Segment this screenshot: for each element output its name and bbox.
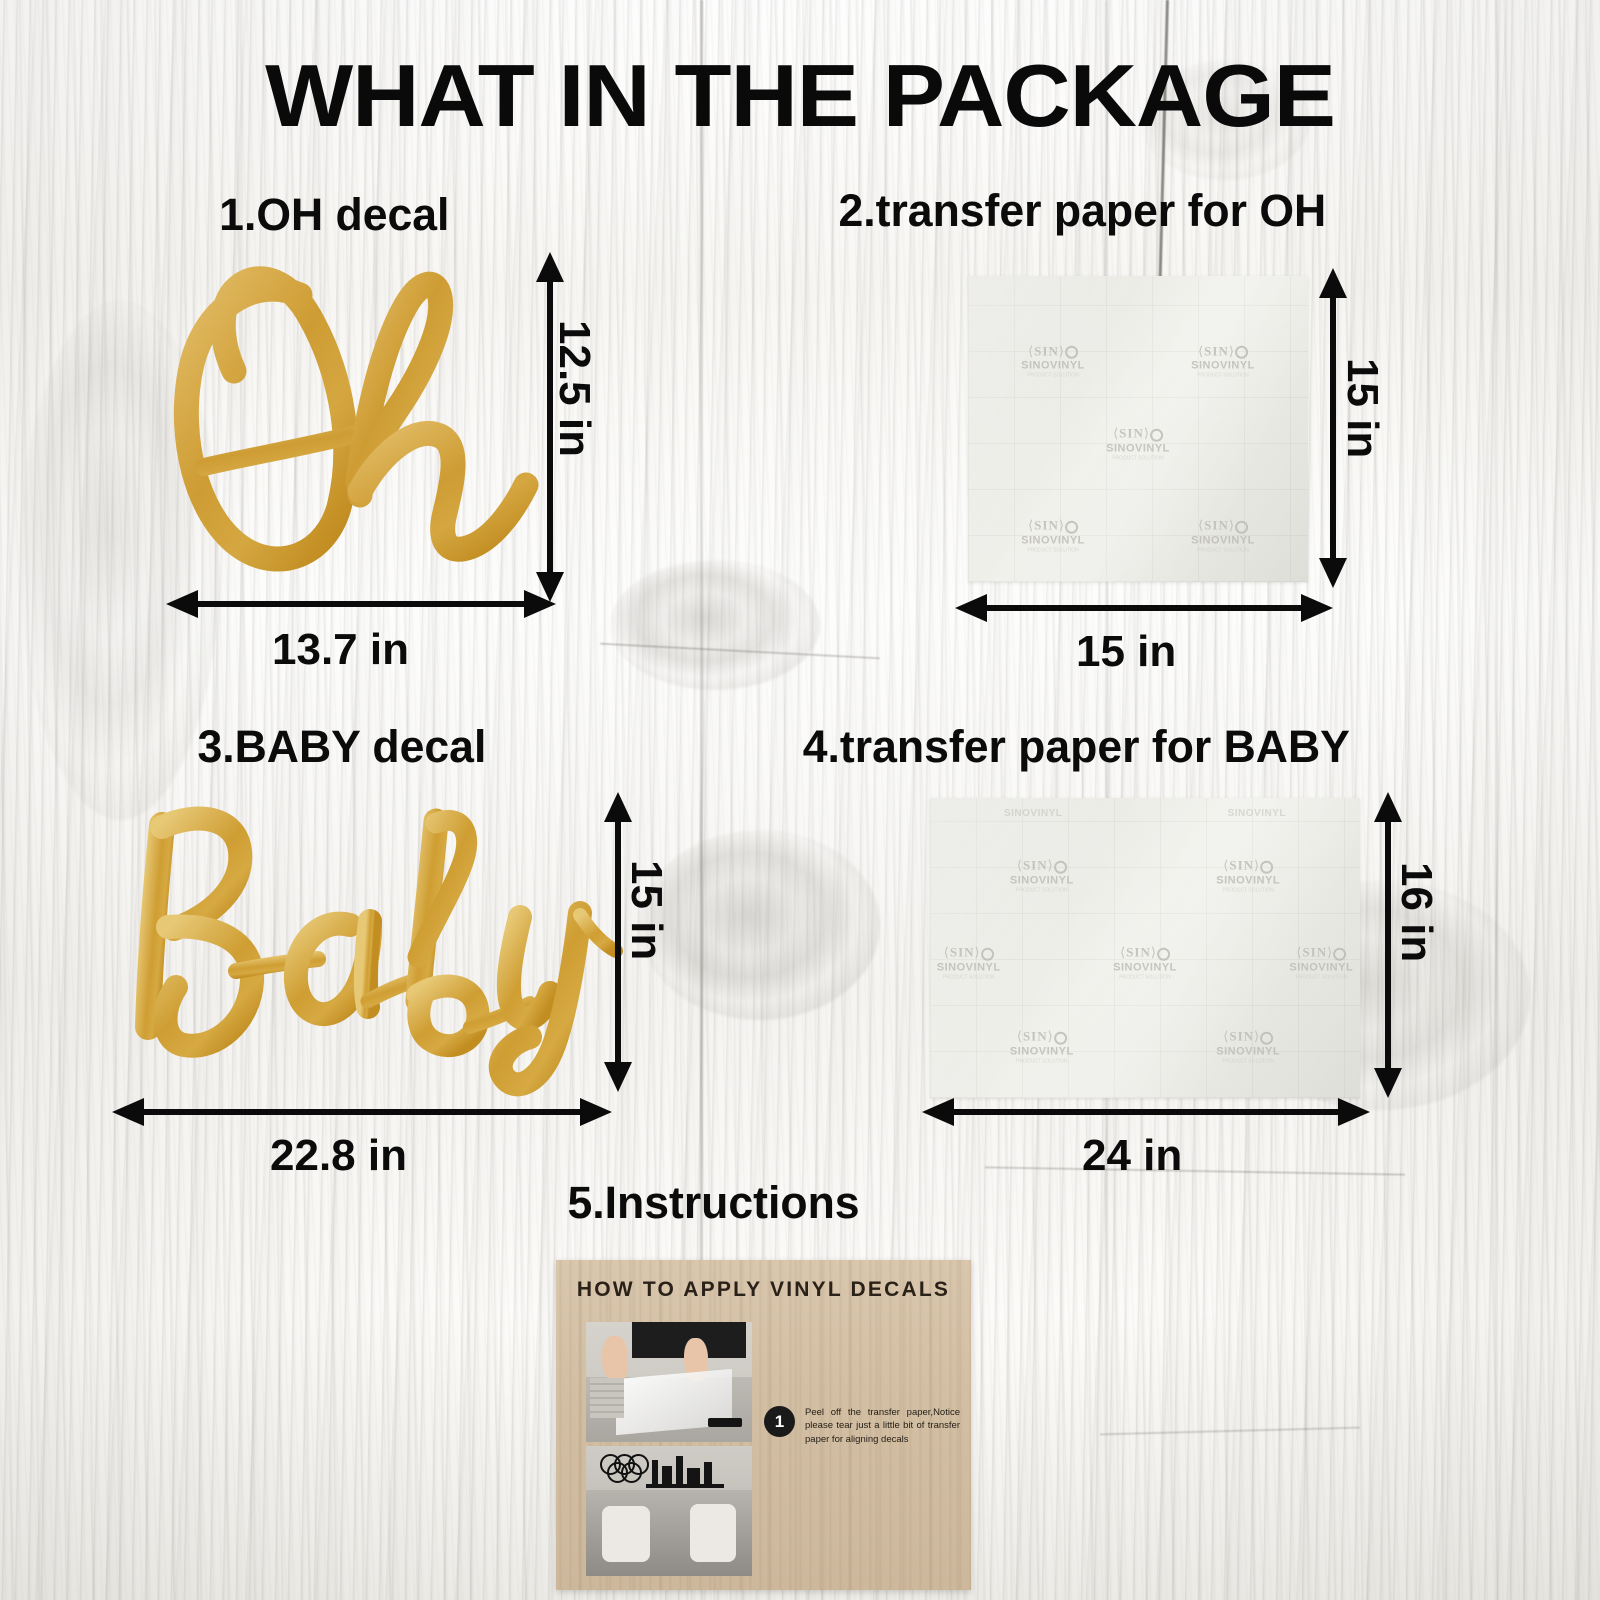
photo-squeegee [708, 1418, 742, 1427]
step-number-badge: 1 [764, 1406, 795, 1437]
photo-stone-wall [590, 1378, 624, 1418]
baby-width-label: 22.8 in [270, 1134, 407, 1178]
instructions-card: HOW TO APPLY VINYL DECALS [556, 1260, 971, 1590]
instruction-step-1: 1 Peel off the transfer paper,Notice ple… [764, 1406, 960, 1446]
infographic-canvas: WHAT IN THE PACKAGE 1.OH decal [0, 0, 1600, 1600]
photo-skyline-decal [704, 1462, 712, 1486]
section-heading-transfer-baby: 4.transfer paper for BABY [803, 724, 1350, 769]
step-description: Peel off the transfer paper,Notice pleas… [805, 1406, 960, 1446]
photo-skyline-base [646, 1484, 724, 1488]
instructions-card-title: HOW TO APPLY VINYL DECALS [556, 1278, 971, 1302]
sheet-sheen [968, 276, 1308, 582]
photo-skyline-decal [662, 1466, 672, 1486]
page-title: WHAT IN THE PACKAGE [0, 52, 1600, 140]
transfer-paper-oh-sheet: ⟨SIN⟩ SINOVINYL PRODUCT SOLUTION ⟨SIN⟩ S… [968, 276, 1308, 582]
transfer-baby-width-label: 24 in [1082, 1134, 1182, 1178]
baby-decal-artwork [118, 795, 618, 1095]
baby-width-arrow [112, 1092, 612, 1132]
transfer-oh-width-label: 15 in [1076, 630, 1176, 674]
olympic-ring-icon [621, 1462, 642, 1483]
baby-height-label: 15 in [624, 860, 668, 960]
section-heading-instructions: 5.Instructions [567, 1180, 859, 1225]
instruction-photo-2 [586, 1446, 752, 1576]
sheet-sheen [930, 798, 1360, 1098]
photo-hand-right [690, 1504, 736, 1562]
oh-width-label: 13.7 in [272, 628, 409, 672]
photo-skyline-decal [676, 1456, 683, 1486]
transfer-baby-height-label: 16 in [1394, 862, 1438, 962]
section-heading-oh-decal: 1.OH decal [219, 192, 449, 237]
section-heading-baby-decal: 3.BABY decal [197, 724, 486, 769]
section-heading-transfer-oh: 2.transfer paper for OH [838, 188, 1326, 233]
transfer-paper-baby-sheet: SINOVINYL SINOVINYL ⟨SIN⟩ SINOVINYL PROD… [930, 798, 1360, 1098]
photo-hand-left [602, 1506, 650, 1562]
oh-decal-artwork [160, 255, 560, 585]
transfer-oh-width-arrow [955, 588, 1333, 628]
transfer-oh-height-label: 15 in [1340, 358, 1384, 458]
photo-hand-left [602, 1336, 628, 1382]
oh-width-arrow [166, 584, 556, 624]
oh-height-label: 12.5 in [552, 320, 596, 457]
instruction-photo-1 [586, 1322, 752, 1442]
photo-skyline-decal [652, 1460, 658, 1486]
transfer-baby-width-arrow [922, 1092, 1370, 1132]
